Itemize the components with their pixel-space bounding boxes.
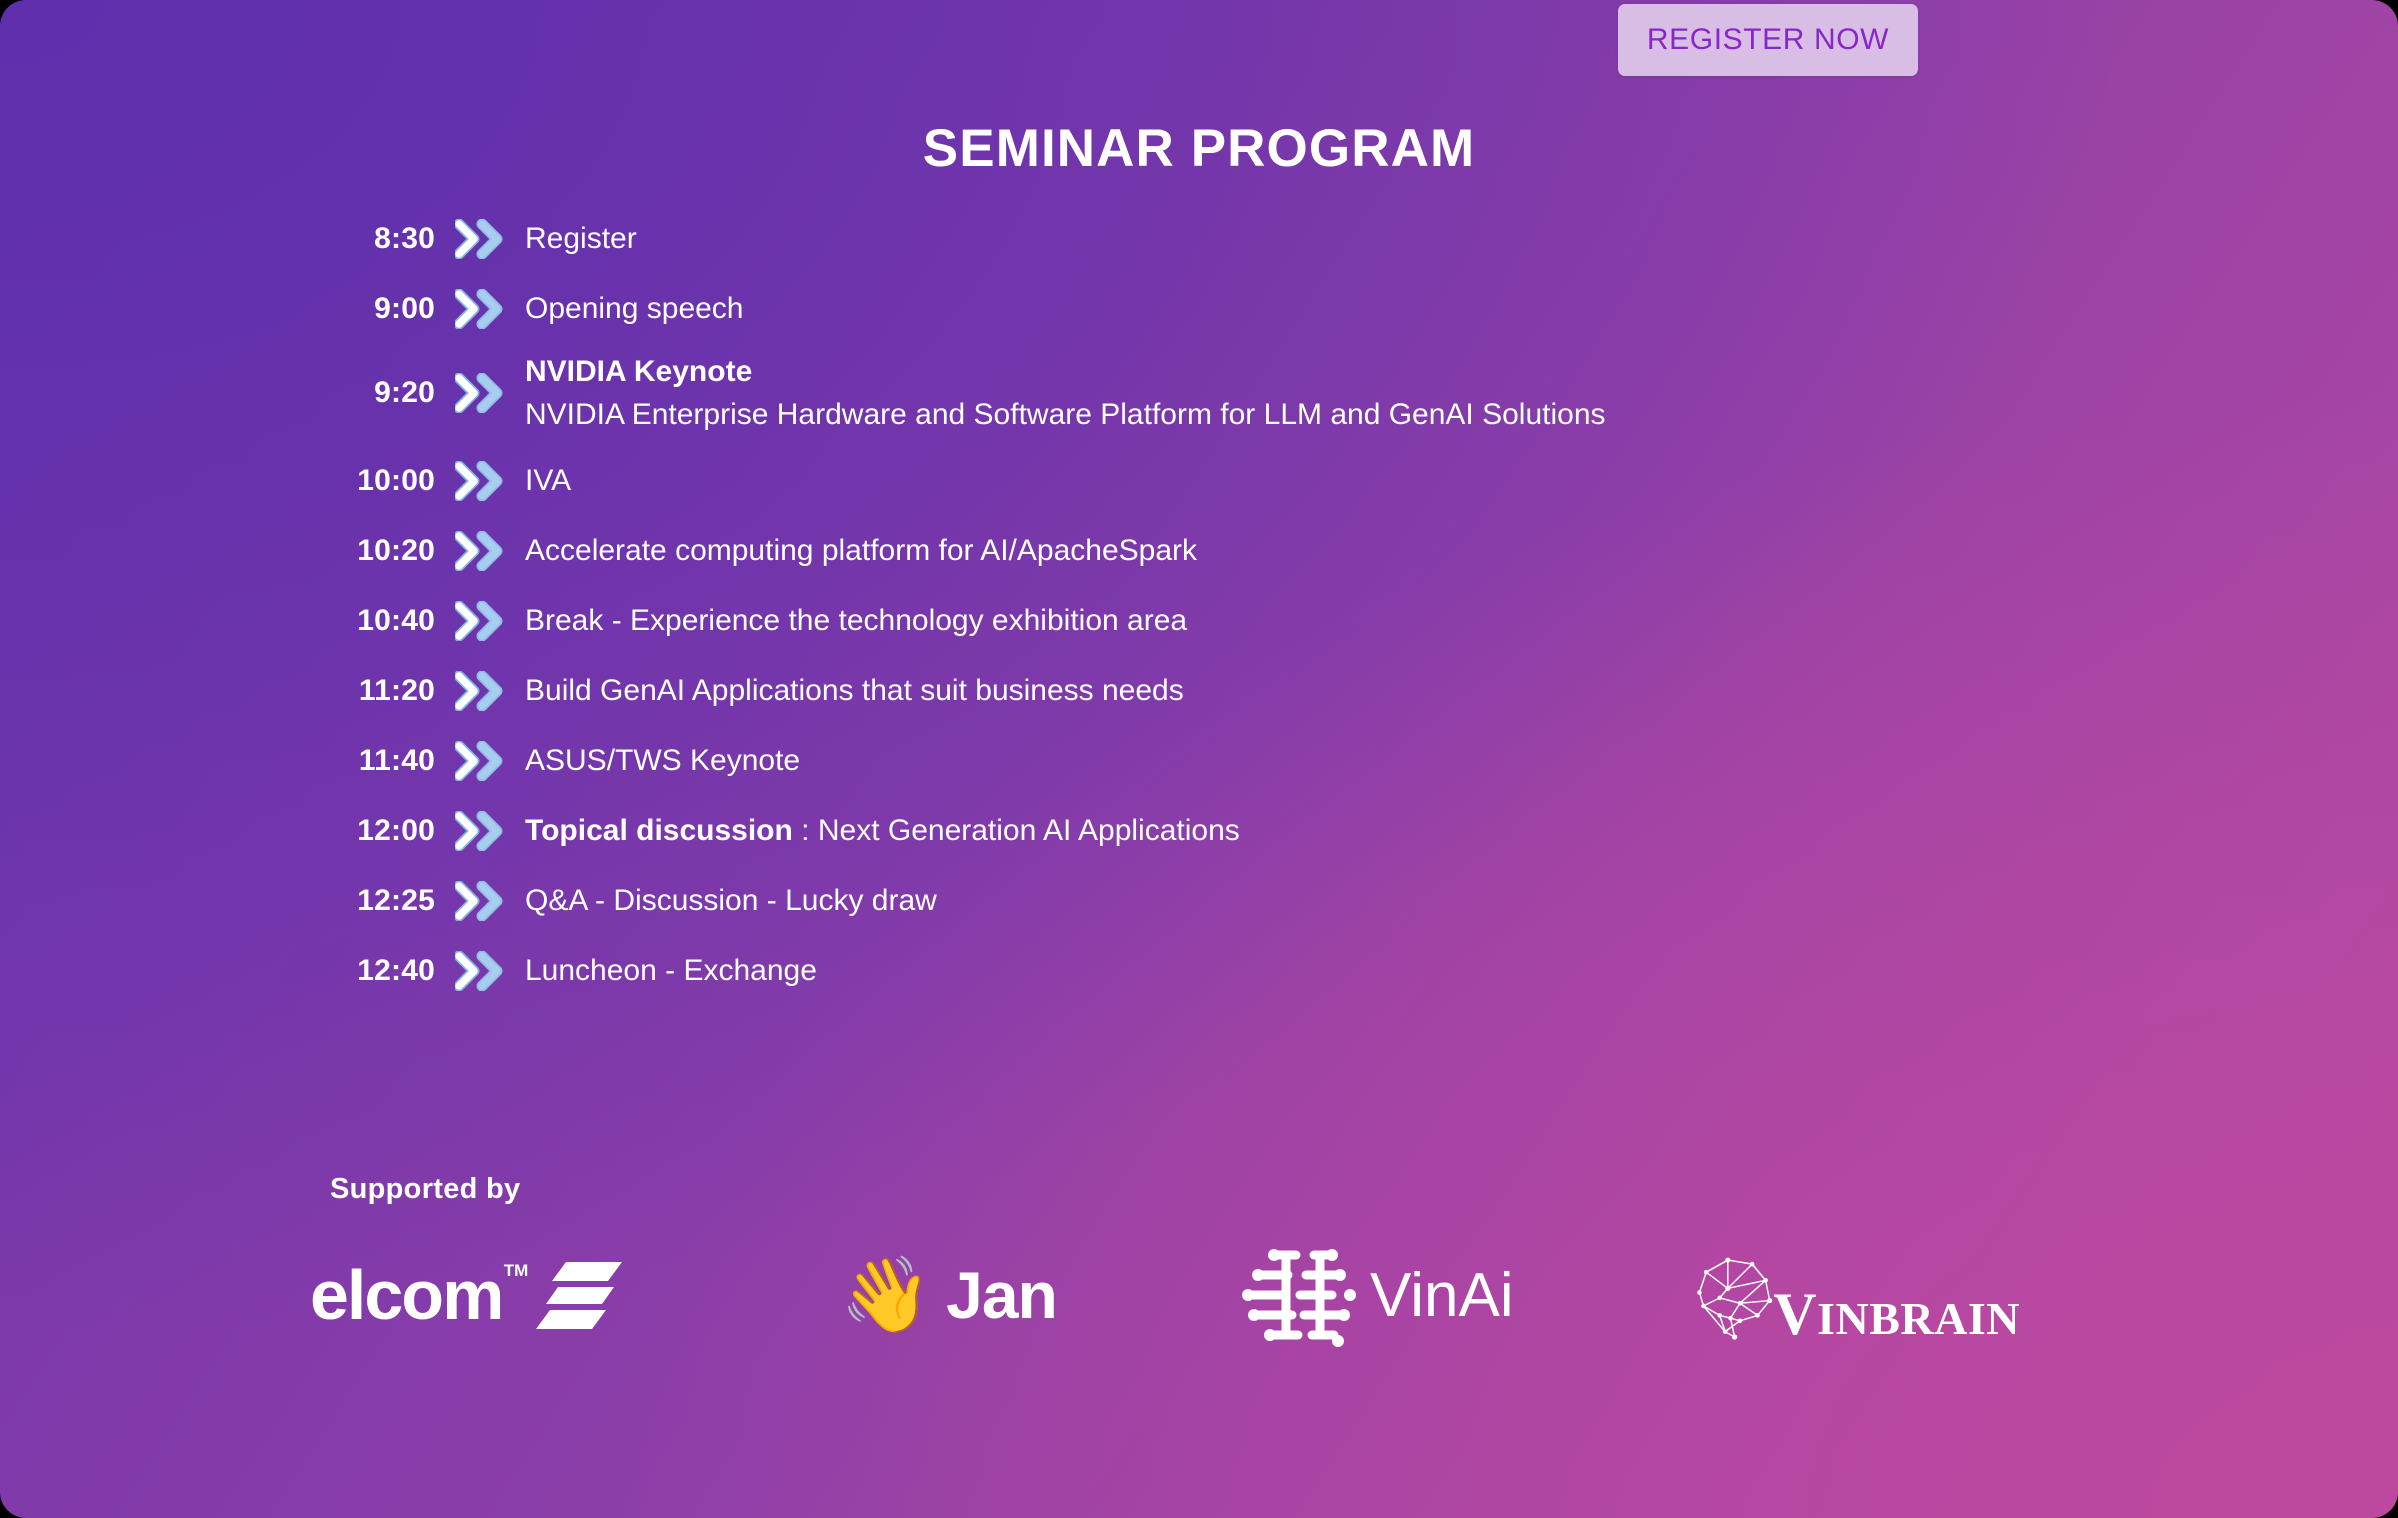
logo-vinai: VinAi <box>1120 1235 1590 1355</box>
schedule-description: Q&A - Discussion - Lucky draw <box>513 886 937 916</box>
schedule-time: 12:25 <box>0 884 435 918</box>
schedule-time: 9:20 <box>0 376 435 410</box>
double-chevron-icon <box>435 601 513 641</box>
schedule-row: 11:20 Build GenAI Applications that suit… <box>0 667 2398 715</box>
double-chevron-icon <box>435 741 513 781</box>
double-chevron-icon <box>455 881 507 921</box>
schedule-title: Q&A - Discussion - Lucky draw <box>525 884 937 917</box>
double-chevron-icon <box>455 601 507 641</box>
elcom-e-mark <box>536 1258 622 1332</box>
double-chevron-icon <box>435 811 513 851</box>
vinai-circuit-icon <box>1240 1243 1358 1347</box>
schedule-title: IVA <box>525 464 571 497</box>
double-chevron-icon <box>455 219 507 259</box>
double-chevron-icon <box>435 373 513 413</box>
double-chevron-icon <box>435 881 513 921</box>
double-chevron-icon <box>455 289 507 329</box>
supported-by-label: Supported by <box>330 1173 521 1206</box>
schedule-row: 10:00 IVA <box>0 457 2398 505</box>
double-chevron-icon <box>455 531 507 571</box>
elcom-wordmark: elcom TM <box>310 1260 502 1330</box>
schedule-title: Opening speech <box>525 292 744 325</box>
double-chevron-icon <box>435 219 513 259</box>
seminar-program-page: REGISTER NOW SEMINAR PROGRAM 8:30 Regist… <box>0 0 2398 1518</box>
double-chevron-icon <box>455 373 507 413</box>
schedule-time: 12:40 <box>0 954 435 988</box>
schedule-title: ASUS/TWS Keynote <box>525 744 800 777</box>
double-chevron-icon <box>455 461 507 501</box>
schedule-title: Luncheon - Exchange <box>525 954 817 987</box>
schedule-time: 11:40 <box>0 744 435 778</box>
double-chevron-icon <box>435 289 513 329</box>
page-title: SEMINAR PROGRAM <box>0 118 2398 179</box>
jan-wordmark: Jan <box>946 1257 1057 1333</box>
waving-hand-icon: 👋 <box>840 1258 932 1332</box>
sponsor-logos: elcom TM 👋 Jan <box>300 1225 2320 1365</box>
schedule-time: 8:30 <box>0 222 435 256</box>
double-chevron-icon <box>435 671 513 711</box>
vinbrain-rest: INBRAIN <box>1817 1293 2020 1344</box>
schedule-title: Build GenAI Applications that suit busin… <box>525 674 1184 707</box>
schedule-row: 9:00 Opening speech <box>0 285 2398 333</box>
logo-vinbrain: VINBRAIN <box>1590 1235 2020 1355</box>
schedule-row: 11:40 ASUS/TWS Keynote <box>0 737 2398 785</box>
double-chevron-icon <box>435 461 513 501</box>
register-now-button[interactable]: REGISTER NOW <box>1618 4 1918 76</box>
double-chevron-icon <box>455 741 507 781</box>
vinai-wordmark: VinAi <box>1370 1260 1514 1331</box>
schedule-description: Accelerate computing platform for AI/Apa… <box>513 536 1197 566</box>
schedule-list: 8:30 Register9:00 Opening speech9:20 NVI… <box>0 215 2398 1017</box>
schedule-title: Register <box>525 222 637 255</box>
vinbrain-initial: V <box>1773 1281 1817 1347</box>
vinbrain-wordmark: VINBRAIN <box>1773 1280 2020 1355</box>
schedule-time: 9:00 <box>0 292 435 326</box>
schedule-time: 10:20 <box>0 534 435 568</box>
schedule-time: 10:40 <box>0 604 435 638</box>
schedule-description: Luncheon - Exchange <box>513 956 817 986</box>
schedule-row: 10:40 Break - Experience the technology … <box>0 597 2398 645</box>
schedule-row: 12:00 Topical discussion : Next Generati… <box>0 807 2398 855</box>
schedule-title: NVIDIA Keynote <box>525 357 1606 387</box>
schedule-title: Break - Experience the technology exhibi… <box>525 604 1187 637</box>
schedule-title: Accelerate computing platform for AI/Apa… <box>525 534 1197 567</box>
schedule-description: NVIDIA KeynoteNVIDIA Enterprise Hardware… <box>513 357 1606 430</box>
schedule-row: 9:20 NVIDIA KeynoteNVIDIA Enterprise Har… <box>0 355 2398 431</box>
double-chevron-icon <box>455 811 507 851</box>
schedule-row: 8:30 Register <box>0 215 2398 263</box>
schedule-row: 10:20 Accelerate computing platform for … <box>0 527 2398 575</box>
trademark-icon: TM <box>504 1262 529 1279</box>
logo-elcom: elcom TM <box>300 1235 700 1355</box>
double-chevron-icon <box>455 671 507 711</box>
logo-jan: 👋 Jan <box>700 1235 1120 1355</box>
schedule-time: 12:00 <box>0 814 435 848</box>
schedule-description: Opening speech <box>513 294 744 324</box>
schedule-row: 12:40 Luncheon - Exchange <box>0 947 2398 995</box>
double-chevron-icon <box>435 531 513 571</box>
schedule-subtitle: NVIDIA Enterprise Hardware and Software … <box>525 400 1606 430</box>
schedule-description: IVA <box>513 466 571 496</box>
schedule-description: Build GenAI Applications that suit busin… <box>513 676 1184 706</box>
schedule-title-suffix: : Next Generation AI Applications <box>793 814 1240 847</box>
double-chevron-icon <box>435 951 513 991</box>
schedule-description: ASUS/TWS Keynote <box>513 746 800 776</box>
schedule-row: 12:25 Q&A - Discussion - Lucky draw <box>0 877 2398 925</box>
elcom-word-text: elcom <box>310 1256 502 1334</box>
schedule-description: Topical discussion : Next Generation AI … <box>513 816 1240 846</box>
schedule-time: 10:00 <box>0 464 435 498</box>
schedule-title: Topical discussion <box>525 814 793 847</box>
double-chevron-icon <box>455 951 507 991</box>
schedule-time: 11:20 <box>0 674 435 708</box>
schedule-description: Register <box>513 224 637 254</box>
schedule-description: Break - Experience the technology exhibi… <box>513 606 1187 636</box>
